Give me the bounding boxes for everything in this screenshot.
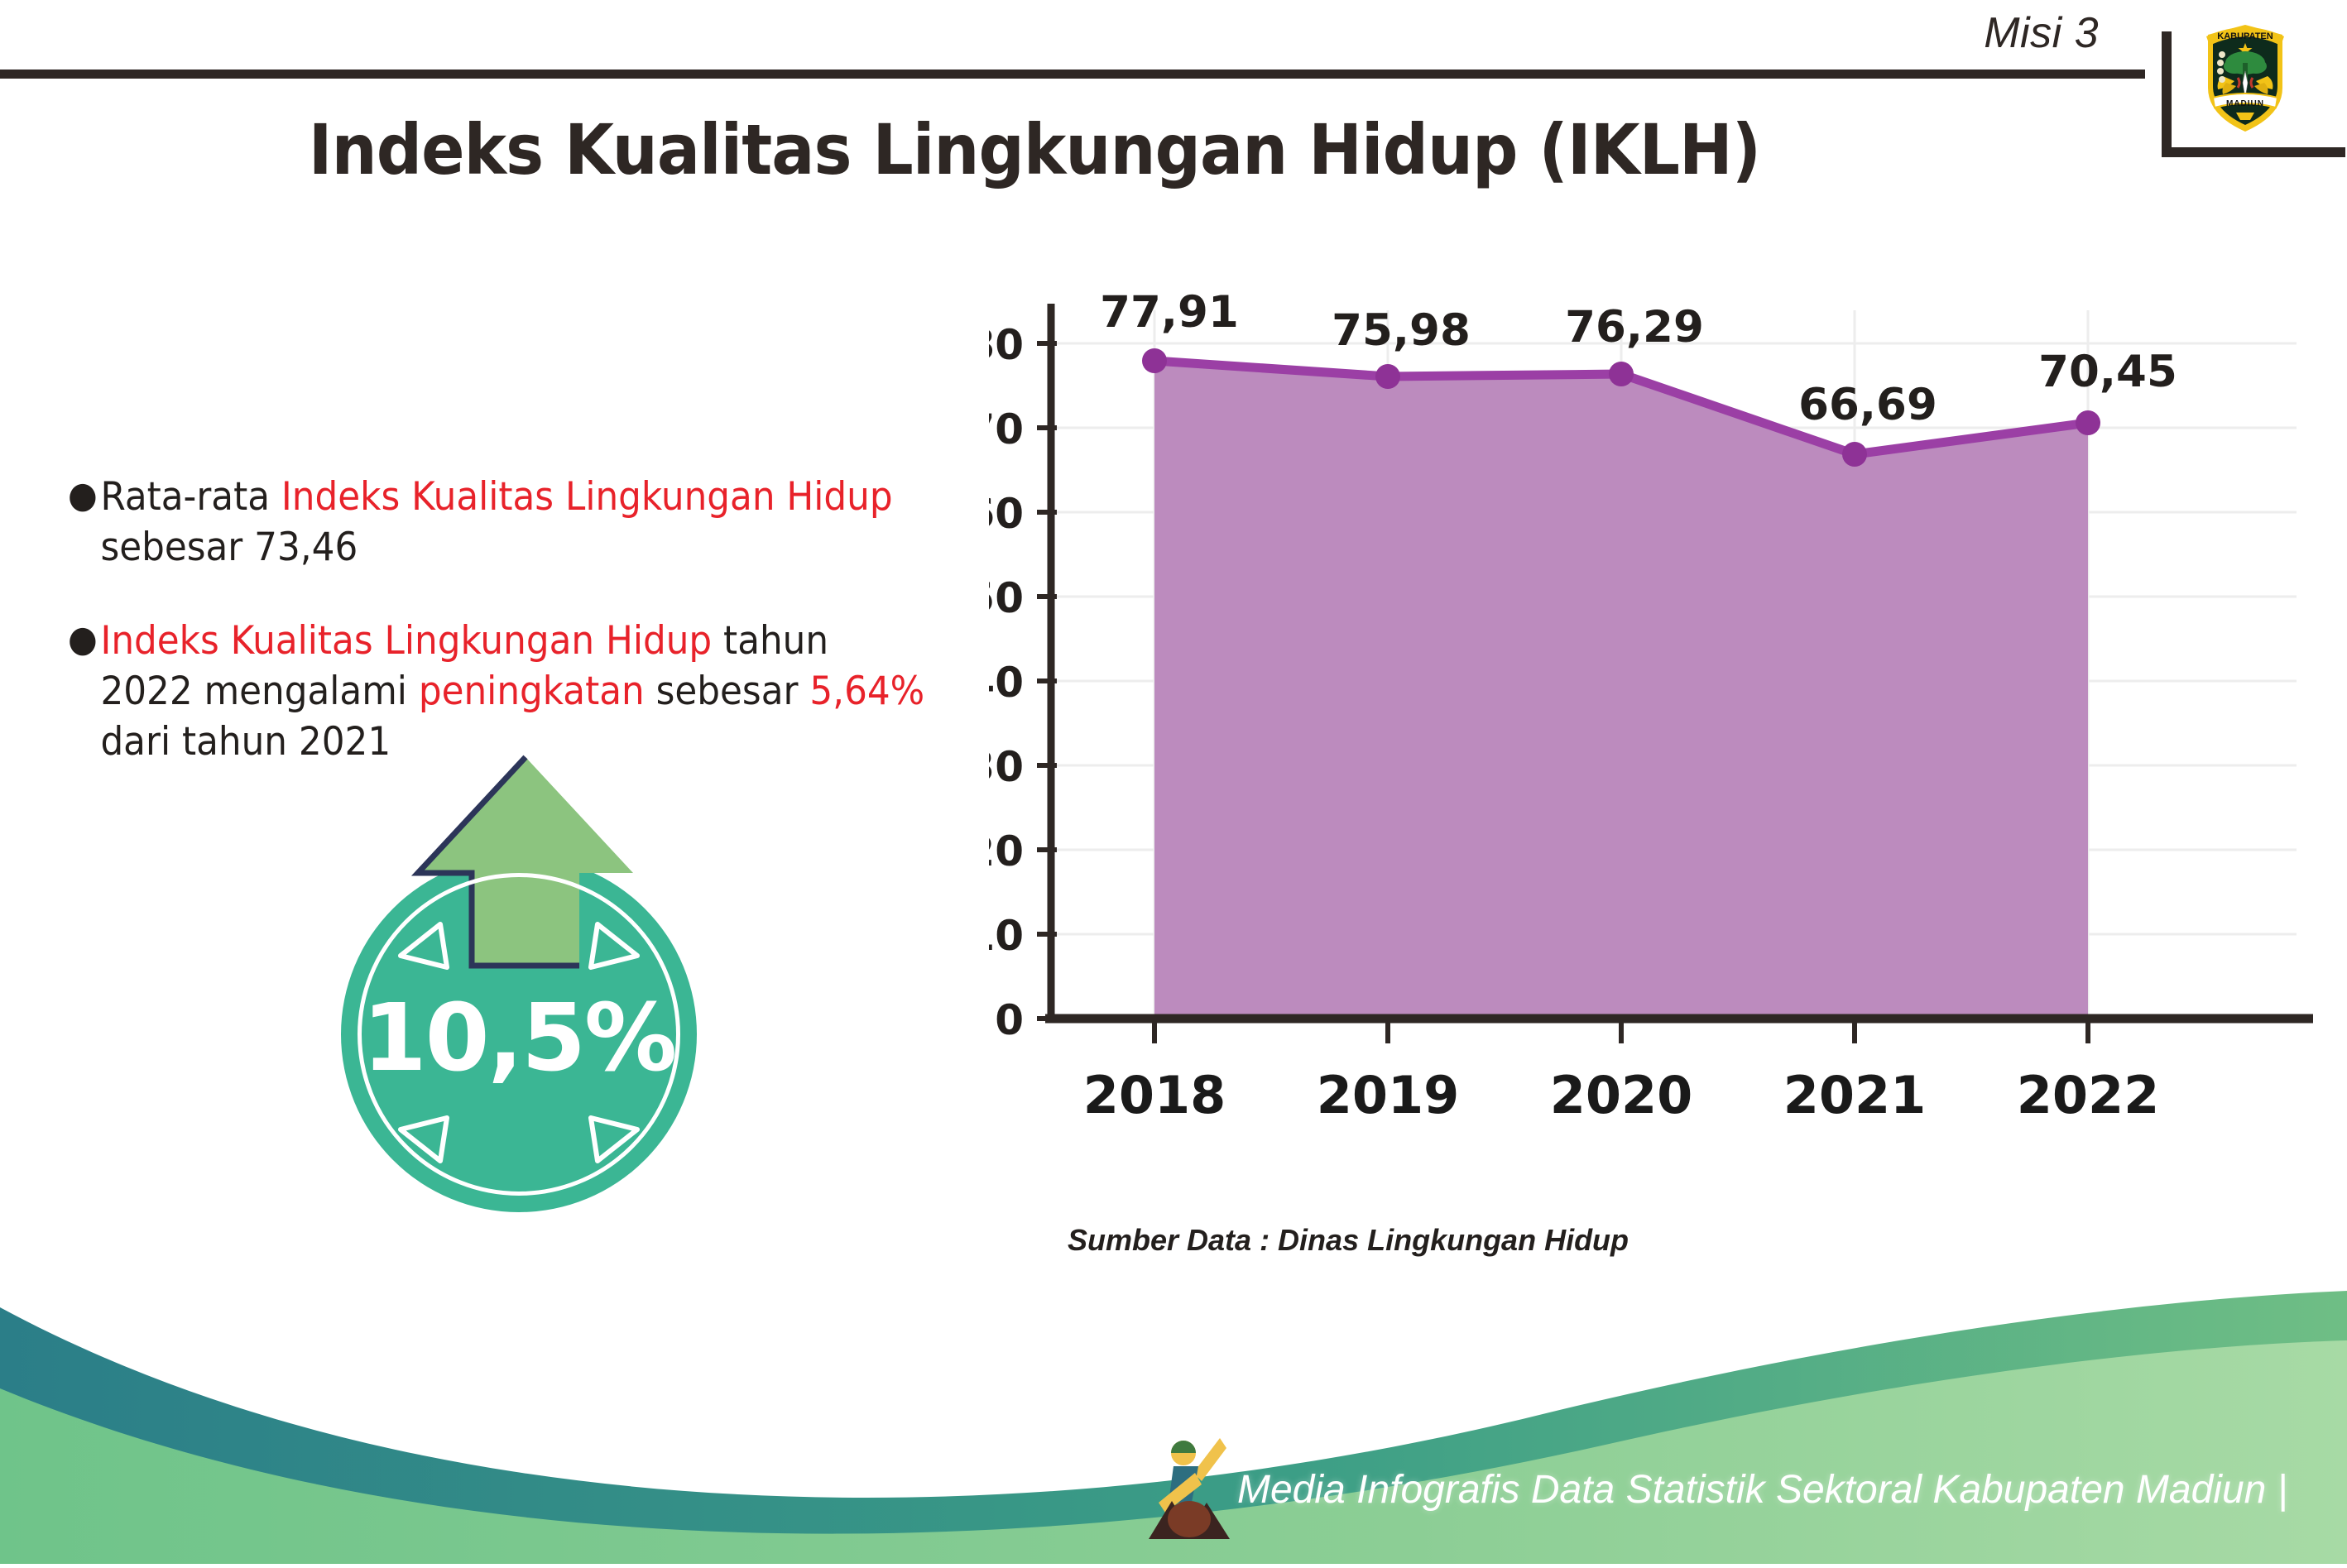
- header-rule: [0, 70, 2145, 79]
- kabupaten-madiun-logo-icon: KABUPATEN MADIUN: [2200, 12, 2291, 136]
- xtick-label: 2021: [1783, 1065, 1927, 1125]
- iklh-area-chart: 0 10 20 30 40 50 60 70 80 77,91 75,98 76…: [989, 294, 2313, 1179]
- source-note: Sumber Data : Dinas Lingkungan Hidup: [1068, 1223, 1629, 1258]
- ytick-label: 80: [989, 321, 1024, 369]
- footer-caption: Media Infografis Data Statistik Sektoral…: [1237, 1467, 2287, 1513]
- bullet-text-1: Rata-rata Indeks Kualitas Lingkungan Hid…: [100, 472, 929, 573]
- increase-badge: 10,5%: [323, 749, 770, 1212]
- bullet-dot: ●: [68, 616, 98, 663]
- data-label: 75,98: [1332, 305, 1471, 356]
- ytick-label: 40: [989, 659, 1024, 707]
- corner-frame-horizontal: [2162, 147, 2345, 157]
- data-label: 76,29: [1565, 302, 1704, 352]
- ytick-label: 60: [989, 490, 1024, 538]
- ytick-label: 30: [989, 743, 1024, 791]
- corner-frame-vertical: [2162, 31, 2172, 157]
- xtick-label: 2018: [1083, 1065, 1226, 1125]
- media-infografis-logo-icon: [1144, 1430, 1235, 1546]
- bullet-dot: ●: [68, 472, 98, 519]
- badge-value: 10,5%: [341, 985, 697, 1092]
- bullet-text-2: Indeks Kualitas Lingkungan Hidup tahun 2…: [100, 616, 929, 767]
- ytick-label: 10: [989, 912, 1024, 960]
- ytick-label: 70: [989, 405, 1024, 453]
- xtick-label: 2022: [2017, 1065, 2160, 1125]
- ytick-label: 0: [995, 996, 1024, 1044]
- svg-text:MADIUN: MADIUN: [2226, 99, 2264, 108]
- list-item: ● Rata-rata Indeks Kualitas Lingkungan H…: [68, 472, 930, 573]
- ytick-label: 50: [989, 574, 1024, 622]
- data-label: 66,69: [1798, 380, 1937, 430]
- list-item: ● Indeks Kualitas Lingkungan Hidup tahun…: [68, 616, 930, 767]
- data-label: 77,91: [1100, 294, 1239, 338]
- mission-label: Misi 3: [1984, 8, 2099, 58]
- page-title: Indeks Kualitas Lingkungan Hidup (IKLH): [83, 109, 1986, 190]
- xtick-label: 2020: [1550, 1065, 1693, 1125]
- xtick-label: 2019: [1317, 1065, 1460, 1125]
- data-label: 70,45: [2038, 347, 2177, 397]
- svg-text:KABUPATEN: KABUPATEN: [2217, 31, 2273, 41]
- ytick-label: 20: [989, 827, 1024, 875]
